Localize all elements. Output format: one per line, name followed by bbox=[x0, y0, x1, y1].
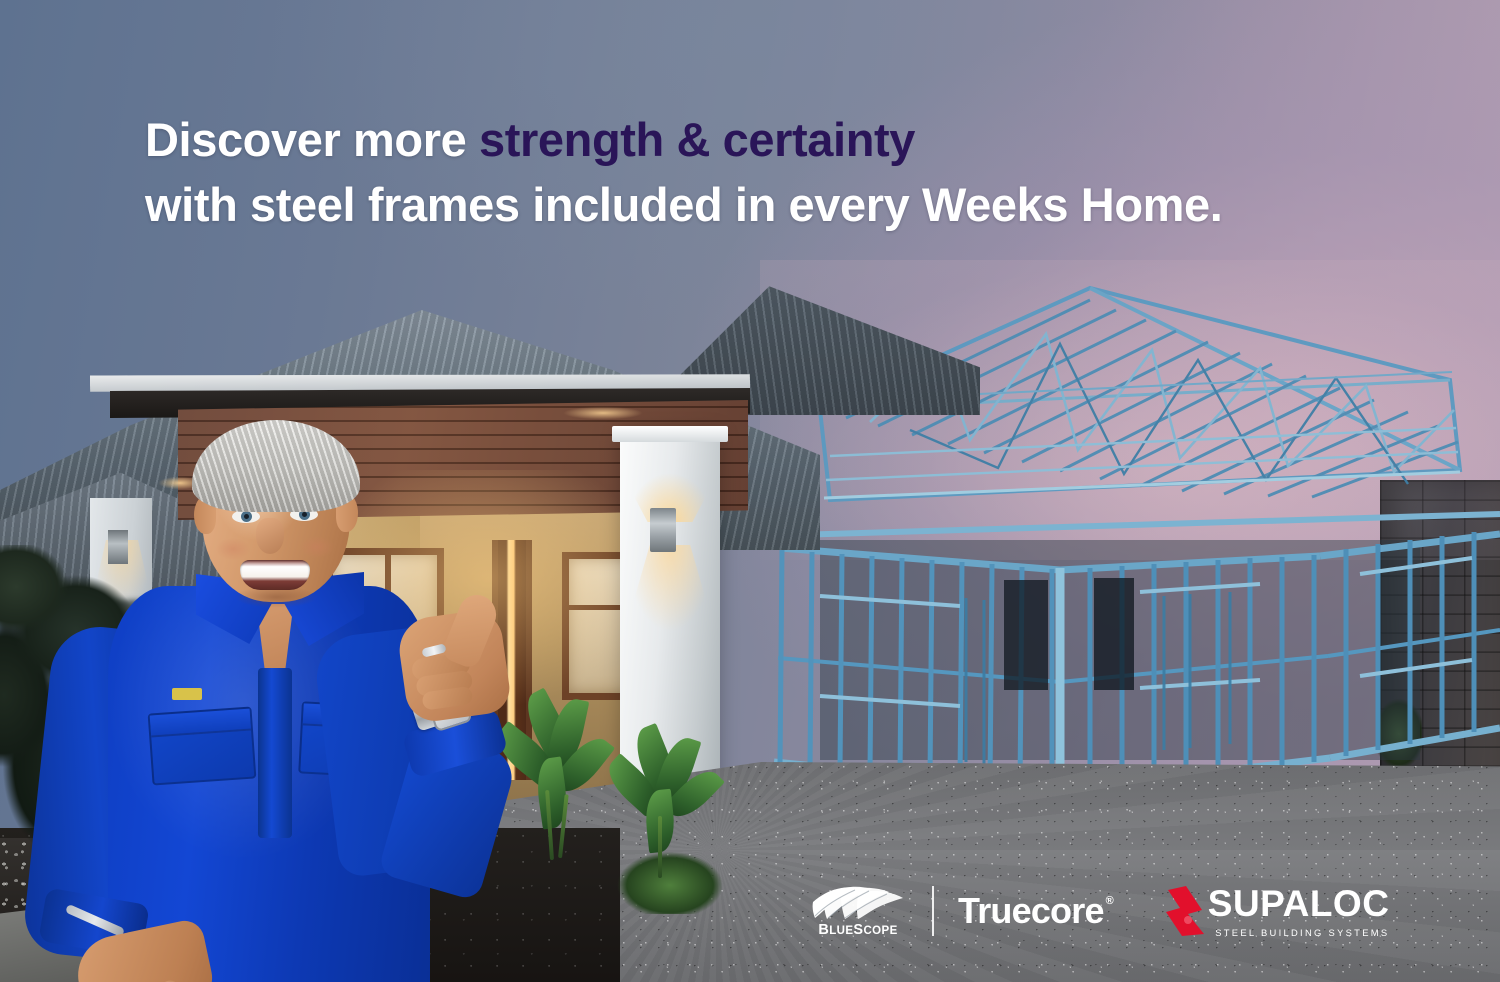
headline-line-1-prefix: Discover more bbox=[145, 113, 479, 166]
cheek-left bbox=[216, 538, 250, 560]
shirt-placket bbox=[258, 668, 292, 838]
wall-frame-studs bbox=[760, 500, 1500, 800]
hero-headline: Discover more strength & certainty with … bbox=[145, 108, 1365, 238]
bluescope-logo[interactable]: BLUESCOPE bbox=[806, 885, 910, 938]
supaloc-wordmark: SUPALOC bbox=[1208, 885, 1390, 922]
cheek-right bbox=[300, 536, 334, 558]
bluescope-wordmark: BLUESCOPE bbox=[818, 922, 897, 938]
truecore-logo[interactable]: Truecore ® bbox=[958, 893, 1114, 929]
plant-strelitzia-right bbox=[600, 720, 730, 880]
headline-line-2: with steel frames included in every Week… bbox=[145, 173, 1365, 238]
supaloc-text-block: SUPALOC STEEL BUILDING SYSTEMS bbox=[1208, 885, 1390, 938]
registered-trademark-icon: ® bbox=[1106, 895, 1114, 907]
headline-line-1-accent: strength & certainty bbox=[479, 113, 915, 166]
hero-banner: Discover more strength & certainty with … bbox=[0, 0, 1500, 982]
truecore-wordmark: Truecore bbox=[958, 893, 1104, 929]
presenter-figure bbox=[0, 418, 520, 982]
supaloc-tagline: STEEL BUILDING SYSTEMS bbox=[1208, 927, 1390, 938]
bs-lue: LUE bbox=[829, 925, 853, 937]
supaloc-red-mark-icon bbox=[1166, 884, 1206, 938]
partner-logo-bar: BLUESCOPE Truecore ® SUPALOC STEEL BUILD… bbox=[806, 880, 1389, 942]
bs-s: S bbox=[853, 922, 863, 938]
bs-cope: COPE bbox=[863, 925, 897, 937]
shirt-pocket-left bbox=[148, 706, 257, 785]
wall-light-fixture bbox=[650, 508, 676, 552]
supaloc-logo[interactable]: SUPALOC STEEL BUILDING SYSTEMS bbox=[1166, 884, 1390, 938]
pocket-flap bbox=[150, 709, 251, 738]
shirt-brand-tag bbox=[172, 688, 202, 700]
nose bbox=[256, 518, 284, 554]
bs-b: B bbox=[818, 922, 829, 938]
logo-divider bbox=[932, 886, 934, 936]
hair bbox=[192, 420, 360, 512]
headline-line-1: Discover more strength & certainty bbox=[145, 108, 1365, 173]
soffit-downlight-right bbox=[548, 404, 658, 422]
chin-shadow bbox=[234, 586, 318, 608]
wave-ribbon-icon bbox=[811, 885, 905, 919]
